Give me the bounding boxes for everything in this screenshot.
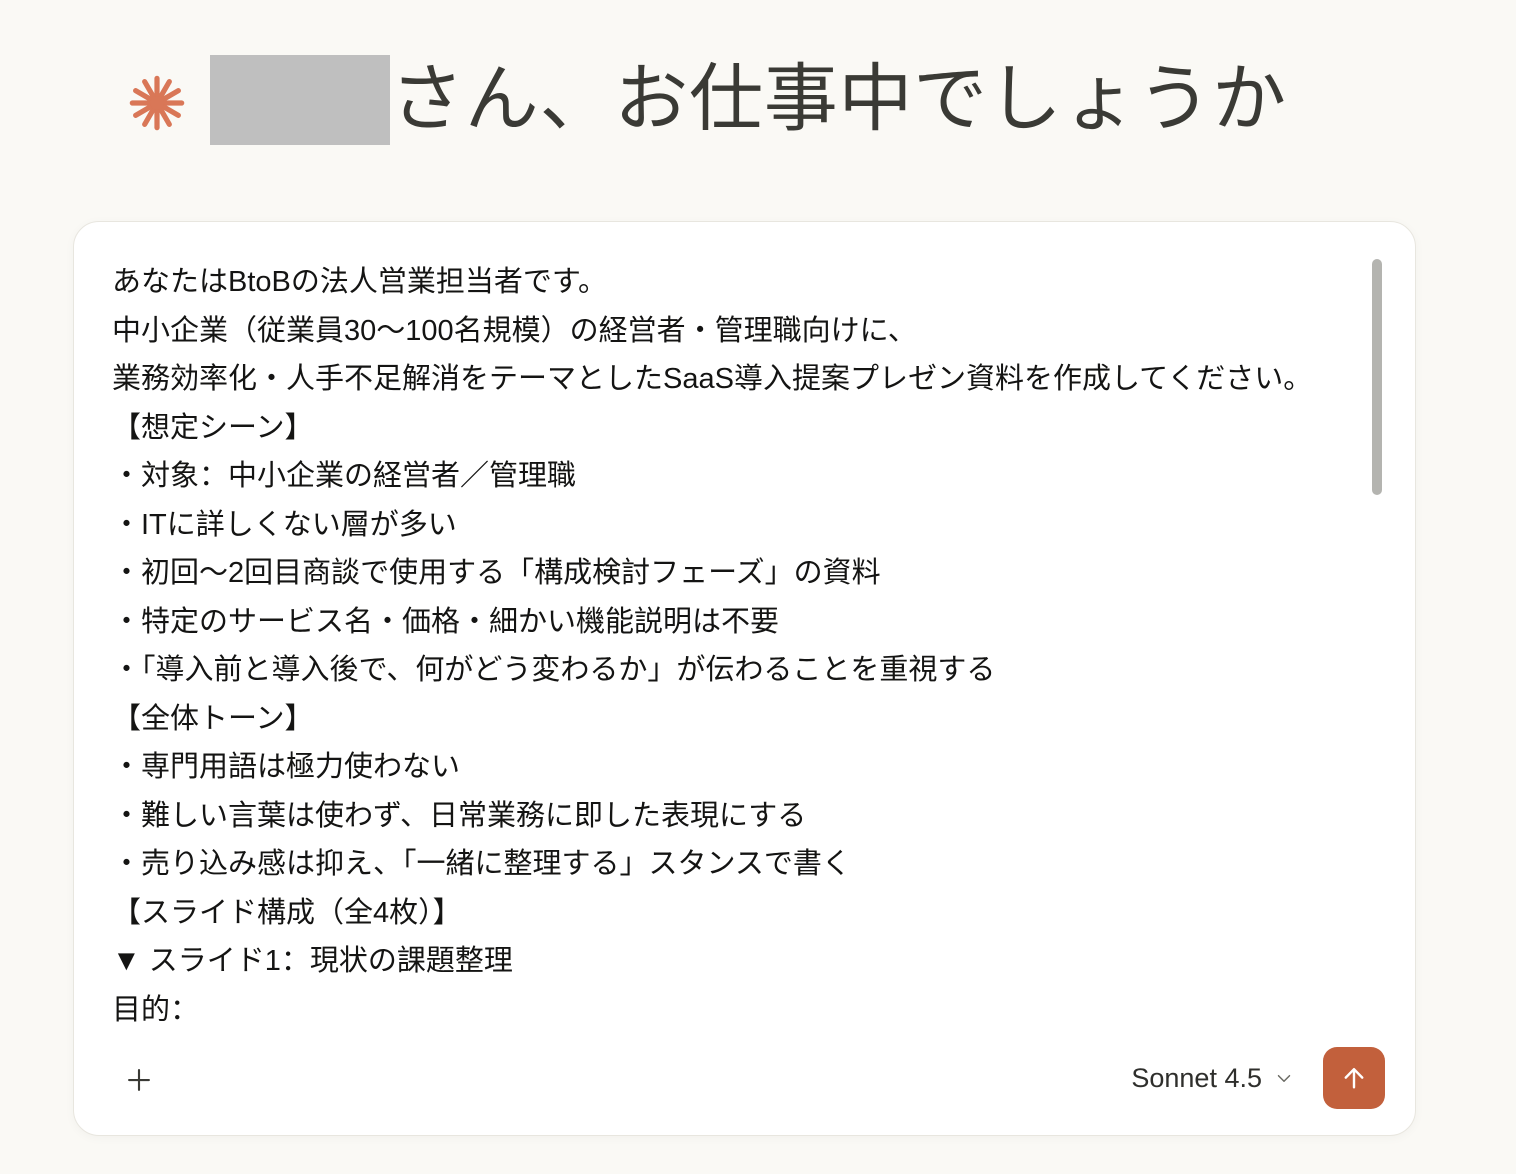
greeting-suffix-text: さん、お仕事中でしょうか	[390, 63, 1287, 137]
arrow-up-icon	[1338, 1062, 1370, 1094]
chevron-down-icon	[1273, 1067, 1295, 1089]
claude-sunburst-icon	[126, 72, 188, 134]
model-selector-button[interactable]: Sonnet 4.5	[1125, 1055, 1301, 1102]
send-message-button[interactable]	[1323, 1047, 1385, 1109]
prompt-scrollbar-thumb[interactable]	[1372, 259, 1382, 495]
greeting-header: さん、お仕事中でしょうか	[126, 40, 1287, 160]
composer-footer-right: Sonnet 4.5	[1125, 1047, 1385, 1109]
add-attachment-button[interactable]	[112, 1053, 166, 1107]
page-title: さん、お仕事中でしょうか	[210, 55, 1287, 145]
composer-footer: Sonnet 4.5	[74, 1025, 1415, 1135]
prompt-scrollbar-track[interactable]	[1372, 258, 1382, 1018]
redacted-username	[210, 55, 390, 145]
plus-icon	[122, 1063, 156, 1097]
model-selector-label: Sonnet 4.5	[1131, 1063, 1262, 1094]
prompt-input-value: あなたはBtoBの法人営業担当者です。 中小企業（従業員30〜100名規模）の経…	[112, 258, 1367, 1034]
prompt-input[interactable]: あなたはBtoBの法人営業担当者です。 中小企業（従業員30〜100名規模）の経…	[112, 258, 1377, 1038]
composer-card: あなたはBtoBの法人営業担当者です。 中小企業（従業員30〜100名規模）の経…	[73, 221, 1416, 1136]
